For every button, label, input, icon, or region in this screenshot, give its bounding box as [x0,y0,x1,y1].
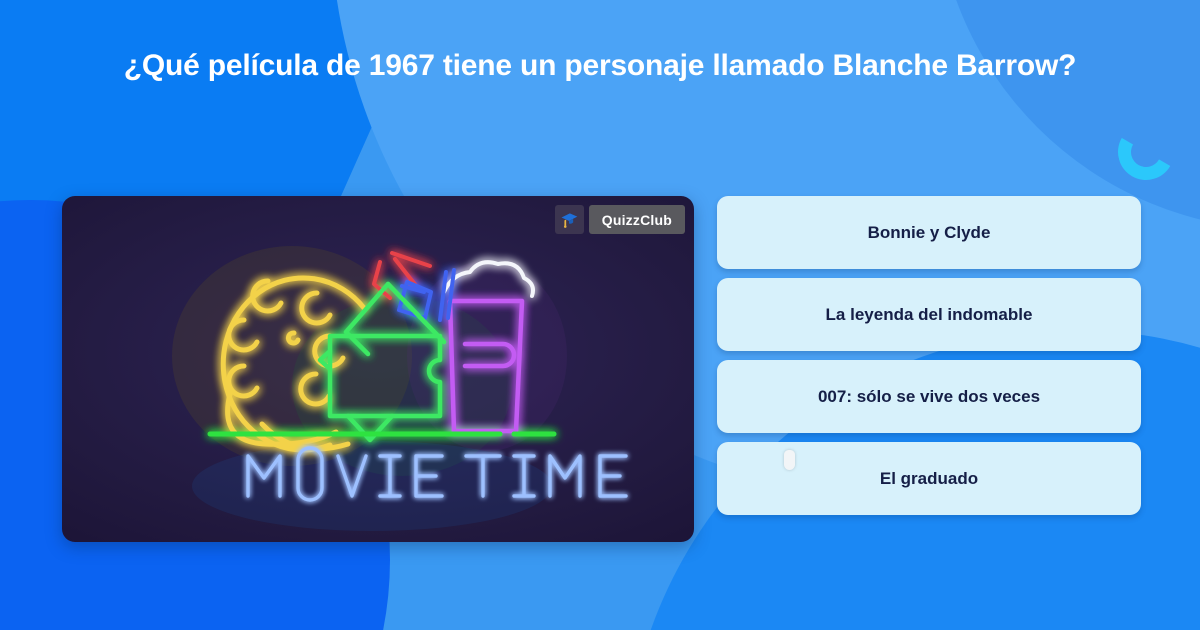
brand-name-label: QuizzClub [589,205,685,234]
neon-movie-illustration [62,196,694,542]
cursor-marker [784,450,795,470]
answer-option-2-label: La leyenda del indomable [826,305,1033,325]
quiz-card-stage: ¿Qué película de 1967 tiene un personaje… [0,0,1200,630]
answer-option-4[interactable]: El graduado [717,442,1141,515]
brand-badge[interactable]: QuizzClub [555,205,685,234]
answer-option-4-label: El graduado [880,469,978,489]
graduation-cap-icon [555,205,584,234]
answer-option-1-label: Bonnie y Clyde [868,223,991,243]
question-image-card: QuizzClub [62,196,694,542]
answer-options-list: Bonnie y Clyde La leyenda del indomable … [717,196,1141,515]
answer-option-1[interactable]: Bonnie y Clyde [717,196,1141,269]
answer-option-2[interactable]: La leyenda del indomable [717,278,1141,351]
answer-option-3-label: 007: sólo se vive dos veces [818,387,1040,407]
answer-option-3[interactable]: 007: sólo se vive dos veces [717,360,1141,433]
question-title: ¿Qué película de 1967 tiene un personaje… [90,44,1110,88]
graduation-cap-glyph [559,210,579,230]
